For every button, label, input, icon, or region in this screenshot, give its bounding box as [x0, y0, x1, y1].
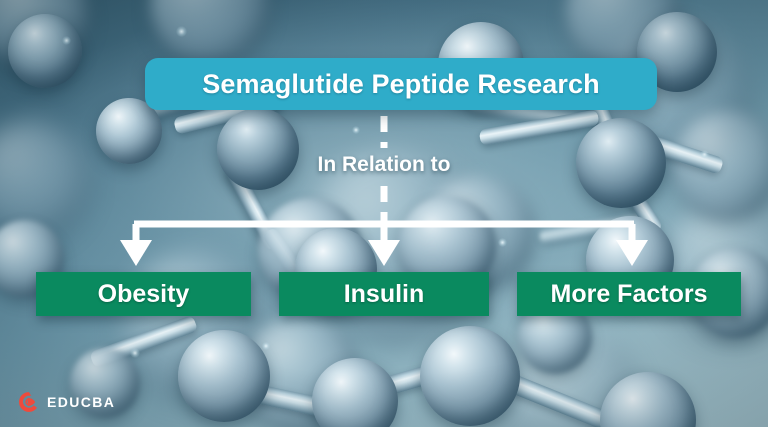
category-label: Obesity [98, 280, 190, 309]
category-box-more-factors: More Factors [517, 272, 741, 316]
subtitle-label: In Relation to [0, 153, 768, 177]
category-box-obesity: Obesity [36, 272, 251, 316]
page-title: Semaglutide Peptide Research [202, 69, 599, 100]
category-label: Insulin [344, 280, 425, 309]
infographic-canvas: Semaglutide Peptide Research In Relation… [0, 0, 768, 427]
educba-wordmark: EDUCBA [47, 394, 115, 410]
title-banner: Semaglutide Peptide Research [145, 58, 657, 110]
educba-logo: EDUCBA [18, 391, 115, 413]
category-label: More Factors [551, 280, 708, 309]
educba-e-icon [18, 391, 40, 413]
category-box-insulin: Insulin [279, 272, 489, 316]
